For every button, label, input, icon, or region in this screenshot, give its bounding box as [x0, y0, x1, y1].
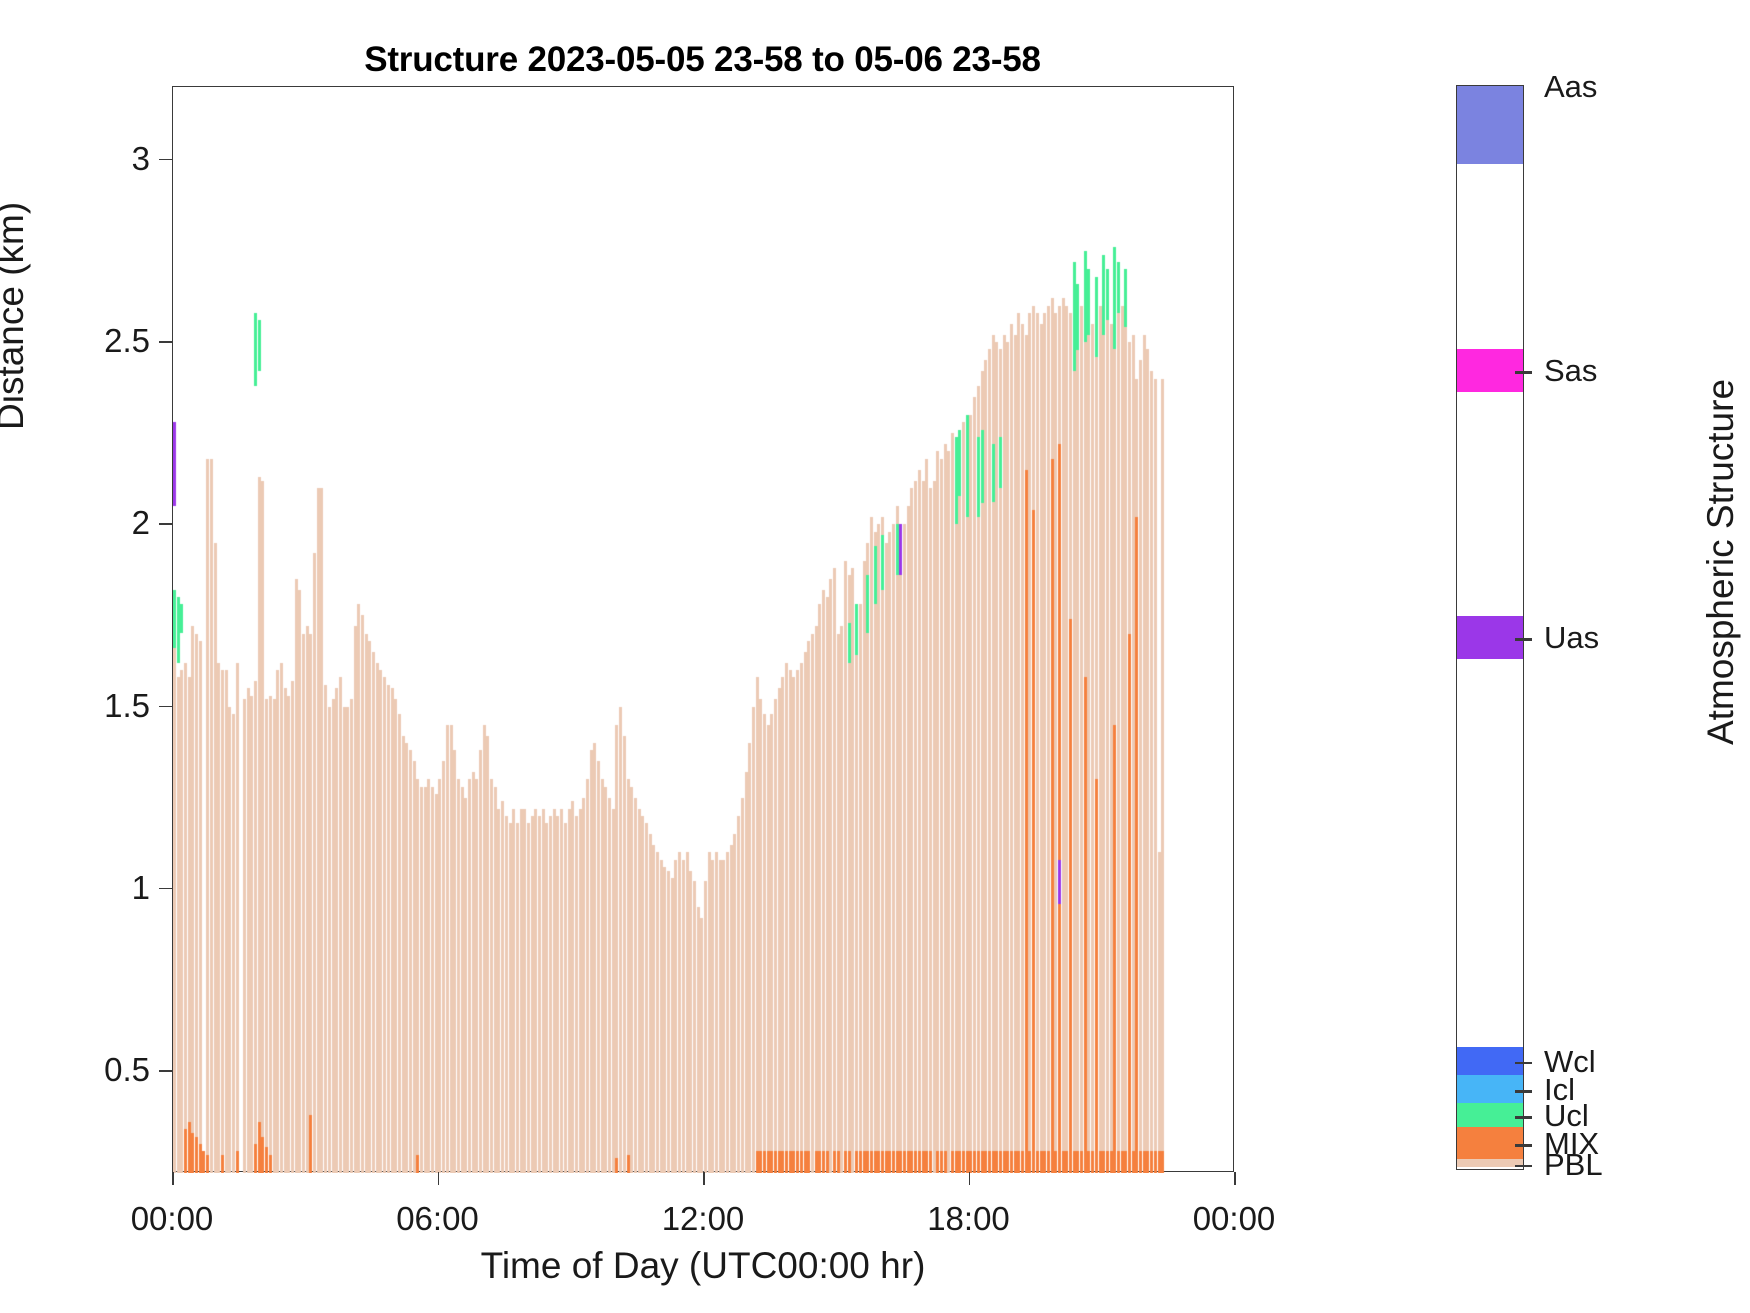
colorbar-segment-uas	[1457, 616, 1523, 659]
colorbar-label-sas: Sas	[1544, 353, 1597, 389]
colorbar-segment-wcl	[1457, 1047, 1523, 1075]
y-tick-mark	[159, 159, 172, 161]
x-tick-label: 12:00	[662, 1200, 745, 1238]
x-tick-label: 00:00	[1193, 1200, 1276, 1238]
x-axis-label: Time of Day (UTC00:00 hr)	[172, 1245, 1234, 1287]
y-tick-label: 2	[132, 504, 150, 542]
colorbar-tick-mark	[1515, 1144, 1532, 1146]
colorbar-segment-sas	[1457, 349, 1523, 392]
colorbar	[1456, 85, 1524, 1170]
plot-area	[172, 86, 1234, 1172]
colorbar-tick-mark	[1515, 1116, 1532, 1118]
y-tick-mark	[159, 523, 172, 525]
y-tick-label: 0.5	[104, 1051, 150, 1089]
x-tick-label: 18:00	[927, 1200, 1010, 1238]
colorbar-label-pbl: PBL	[1544, 1147, 1603, 1183]
y-tick-label: 1	[132, 869, 150, 907]
colorbar-label-aas: Aas	[1544, 69, 1597, 105]
y-tick-label: 1.5	[104, 687, 150, 725]
colorbar-tick-mark	[1515, 1165, 1532, 1167]
x-tick-mark	[438, 1172, 440, 1185]
colorbar-tick-mark	[1515, 1062, 1532, 1064]
y-tick-mark	[159, 1070, 172, 1072]
colorbar-segment-mix	[1457, 1127, 1523, 1159]
colorbar-label-uas: Uas	[1544, 620, 1599, 656]
x-tick-mark	[1234, 1172, 1236, 1185]
colorbar-segment-ucl	[1457, 1103, 1523, 1127]
y-tick-mark	[159, 341, 172, 343]
x-tick-mark	[703, 1172, 705, 1185]
y-axis-label: Distance (km)	[0, 202, 32, 430]
x-tick-label: 00:00	[131, 1200, 214, 1238]
y-tick-label: 3	[132, 140, 150, 178]
x-tick-mark	[969, 1172, 971, 1185]
figure-root: Structure 2023-05-05 23-58 to 05-06 23-5…	[0, 0, 1750, 1313]
colorbar-tick-mark	[1515, 371, 1532, 373]
y-tick-label: 2.5	[104, 322, 150, 360]
colorbar-segment-pbl	[1457, 1159, 1523, 1167]
colorbar-segment-aas	[1457, 86, 1523, 164]
x-tick-mark	[172, 1172, 174, 1185]
colorbar-segment-icl	[1457, 1075, 1523, 1103]
colorbar-axis-label: Atmospheric Structure	[1700, 379, 1742, 745]
structure-profile-canvas	[173, 87, 1235, 1173]
y-tick-mark	[159, 888, 172, 890]
colorbar-tick-mark	[1515, 638, 1532, 640]
x-tick-label: 06:00	[396, 1200, 479, 1238]
colorbar-tick-mark	[1515, 1090, 1532, 1092]
y-tick-mark	[159, 706, 172, 708]
page-title: Structure 2023-05-05 23-58 to 05-06 23-5…	[170, 40, 1235, 80]
